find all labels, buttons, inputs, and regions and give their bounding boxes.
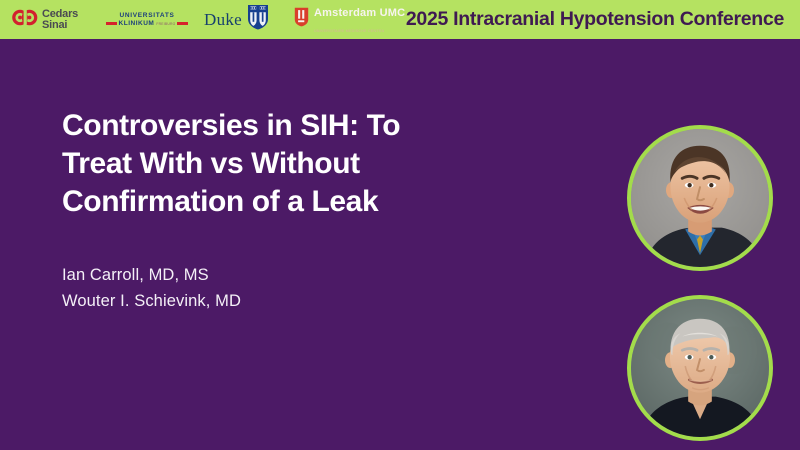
duke-shield-icon: [247, 4, 269, 35]
header-bar: Cedars Sinai UNIVERSITATS KLINIKUM FREIB…: [0, 0, 800, 39]
slide-text-column: Controversies in SIH: To Treat With vs W…: [62, 107, 542, 314]
logo-duke: Duke: [204, 4, 276, 35]
slide-body: Controversies in SIH: To Treat With vs W…: [0, 39, 800, 450]
speaker-name-2: Wouter I. Schievink, MD: [62, 289, 542, 315]
conference-title-slide: Cedars Sinai UNIVERSITATS KLINIKUM FREIB…: [0, 0, 800, 450]
uk-bar-left-icon: [106, 22, 117, 25]
avatar-speaker-1: [627, 125, 773, 271]
cedars-sinai-line1: Cedars: [42, 9, 78, 20]
logo-amsterdam-umc: Amsterdam UMC UNIVERSITAIRE MEDISCHE CEN…: [294, 4, 406, 36]
logo-cedars-sinai: Cedars Sinai: [12, 8, 98, 32]
cedars-sinai-mark-icon: [12, 8, 38, 32]
speaker-name-1: Ian Carroll, MD, MS: [62, 263, 542, 289]
sponsor-logo-strip: Cedars Sinai UNIVERSITATS KLINIKUM FREIB…: [0, 0, 406, 39]
cedars-sinai-line2: Sinai: [42, 20, 78, 31]
amsterdam-umc-wordmark-block: Amsterdam UMC UNIVERSITAIRE MEDISCHE CEN…: [314, 4, 406, 36]
uk-subtitle: FREIBURG: [156, 20, 175, 28]
amsterdam-umc-wordmark: Amsterdam UMC: [314, 7, 405, 19]
conference-title: 2025 Intracranial Hypotension Conference: [406, 0, 784, 39]
uk-line2-row: KLINIKUM FREIBURG: [106, 20, 188, 28]
avatar-speaker-2: [627, 295, 773, 441]
duke-wordmark: Duke: [204, 11, 242, 29]
uk-line2: KLINIKUM: [119, 20, 155, 28]
cedars-sinai-wordmark: Cedars Sinai: [42, 9, 78, 30]
speaker-list: Ian Carroll, MD, MS Wouter I. Schievink,…: [62, 263, 542, 314]
uk-bar-right-icon: [177, 22, 188, 25]
amsterdam-umc-subtitle: UNIVERSITAIRE MEDISCHE CENTRA: [314, 29, 384, 33]
amsterdam-umc-shield-icon: [294, 7, 309, 32]
uk-line1: UNIVERSITATS: [106, 12, 188, 20]
talk-title: Controversies in SIH: To Treat With vs W…: [62, 107, 542, 221]
logo-universitatsklinikum: UNIVERSITATS KLINIKUM FREIBURG: [106, 12, 188, 28]
